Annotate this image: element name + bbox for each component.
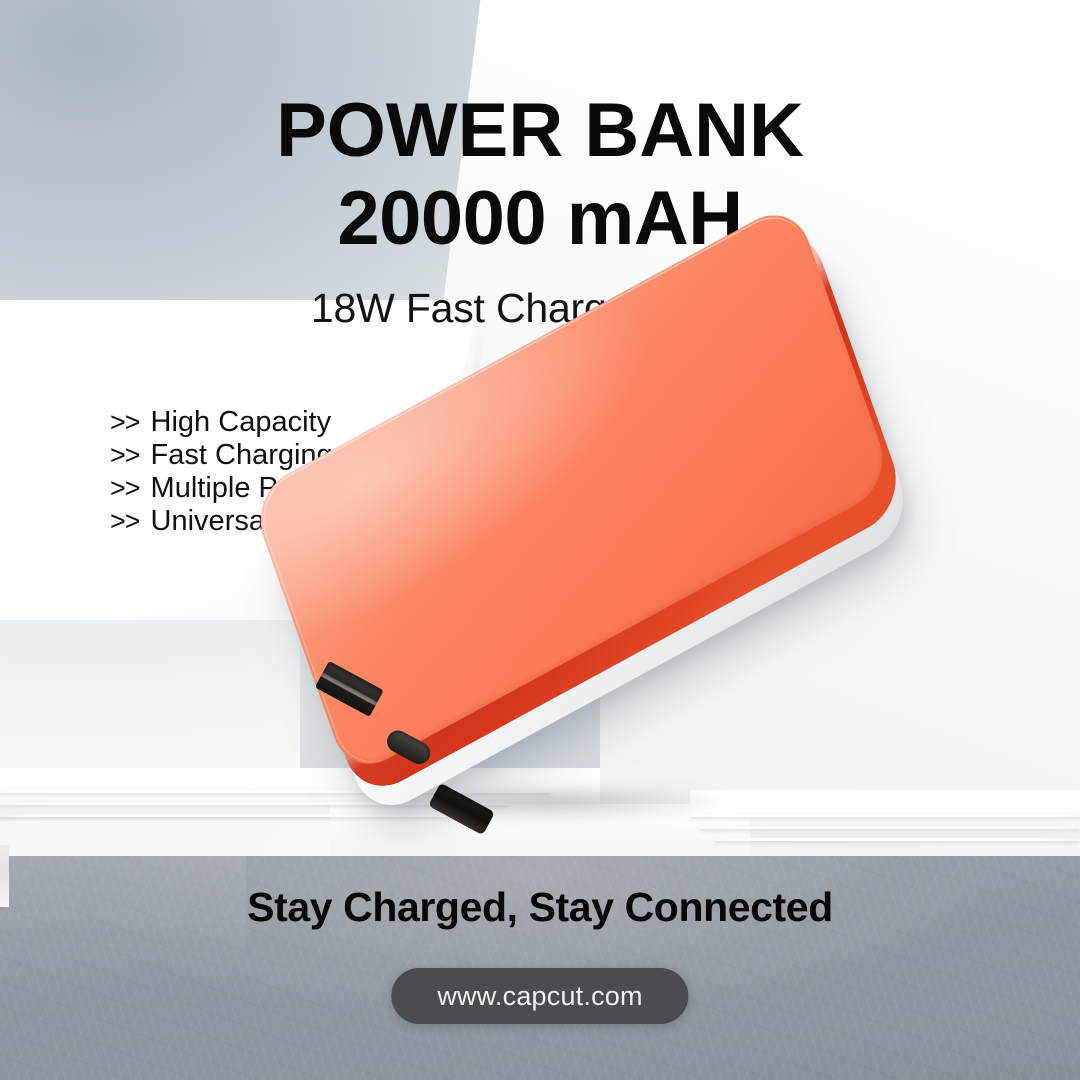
headline-line-2: 20000 mAH — [0, 176, 1080, 262]
product-poster: POWER BANK 20000 mAH 18W Fast Charger Po… — [0, 0, 1080, 1080]
chevron-double-right-icon: >> — [110, 439, 140, 471]
website-url-badge[interactable]: www.capcut.com — [391, 968, 688, 1024]
micro-usb-port — [383, 727, 434, 768]
chevron-double-right-icon: >> — [110, 472, 140, 504]
subtitle: 18W Fast Charger Power — [0, 285, 1080, 332]
chevron-double-right-icon: >> — [110, 406, 140, 438]
output-slot-port — [428, 783, 495, 835]
headline-line-1: POWER BANK — [0, 88, 1080, 174]
page-title: POWER BANK 20000 mAH — [0, 88, 1080, 262]
ledge-groove — [700, 826, 1080, 829]
ledge-groove — [715, 838, 1080, 841]
tagline: Stay Charged, Stay Connected — [0, 884, 1080, 931]
chevron-double-right-icon: >> — [110, 505, 140, 537]
